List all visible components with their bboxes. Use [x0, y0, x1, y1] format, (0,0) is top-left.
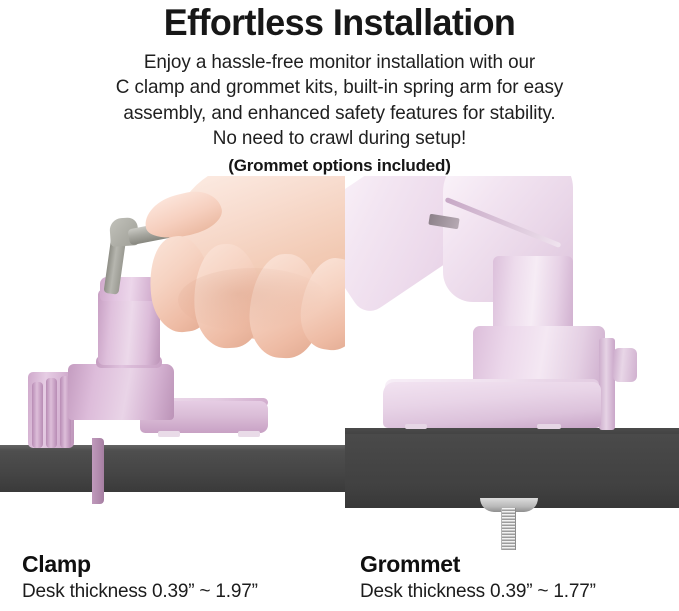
caption-clamp-title: Clamp [22, 551, 258, 578]
clamp-rib-2 [46, 378, 57, 448]
hand-gripping-hex-key [150, 176, 345, 372]
desk-surface-grommet [345, 434, 679, 508]
grommet-base-plate [383, 382, 601, 428]
clamp-pad-left [158, 431, 180, 437]
description-line-4: No need to crawl during setup! [5, 126, 674, 151]
caption-clamp-thickness: Desk thickness 0.39” ~ 1.97” [22, 578, 258, 604]
clamp-pad-right [238, 431, 260, 437]
page-title: Effortless Installation [10, 0, 669, 45]
caption-grommet-thickness: Desk thickness 0.39” ~ 1.77” [360, 578, 596, 604]
product-photo-stage [0, 176, 679, 550]
clamp-hook-inner-shadow [92, 438, 104, 504]
caption-grommet: Grommet Desk thickness 0.39” ~ 1.77” [360, 551, 596, 604]
clamp-photo-panel [0, 176, 345, 550]
grommet-adjust-knob [613, 348, 637, 382]
description-line-1: Enjoy a hassle-free monitor installation… [5, 50, 674, 75]
grommet-pad-right [537, 424, 561, 429]
header-block: Effortless Installation Enjoy a hassle-f… [0, 0, 679, 177]
product-feature-image: Effortless Installation Enjoy a hassle-f… [0, 0, 679, 611]
clamp-head-block [68, 364, 174, 420]
grommet-pad-left [405, 424, 427, 429]
desk-surface-clamp [0, 445, 345, 492]
caption-grommet-title: Grommet [360, 551, 596, 578]
description-paragraph: Enjoy a hassle-free monitor installation… [5, 45, 674, 152]
hand-shadow [178, 268, 328, 332]
grommet-photo-panel [345, 176, 679, 550]
caption-row: Clamp Desk thickness 0.39” ~ 1.97” Gromm… [0, 551, 679, 611]
description-line-3: assembly, and enhanced safety features f… [5, 101, 674, 126]
description-line-2: C clamp and grommet kits, built-in sprin… [5, 75, 674, 100]
grommet-threaded-bolt [501, 508, 516, 550]
grommet-options-note: (Grommet options included) [0, 152, 679, 177]
caption-clamp: Clamp Desk thickness 0.39” ~ 1.97” [22, 551, 258, 604]
clamp-rib-1 [32, 382, 43, 448]
